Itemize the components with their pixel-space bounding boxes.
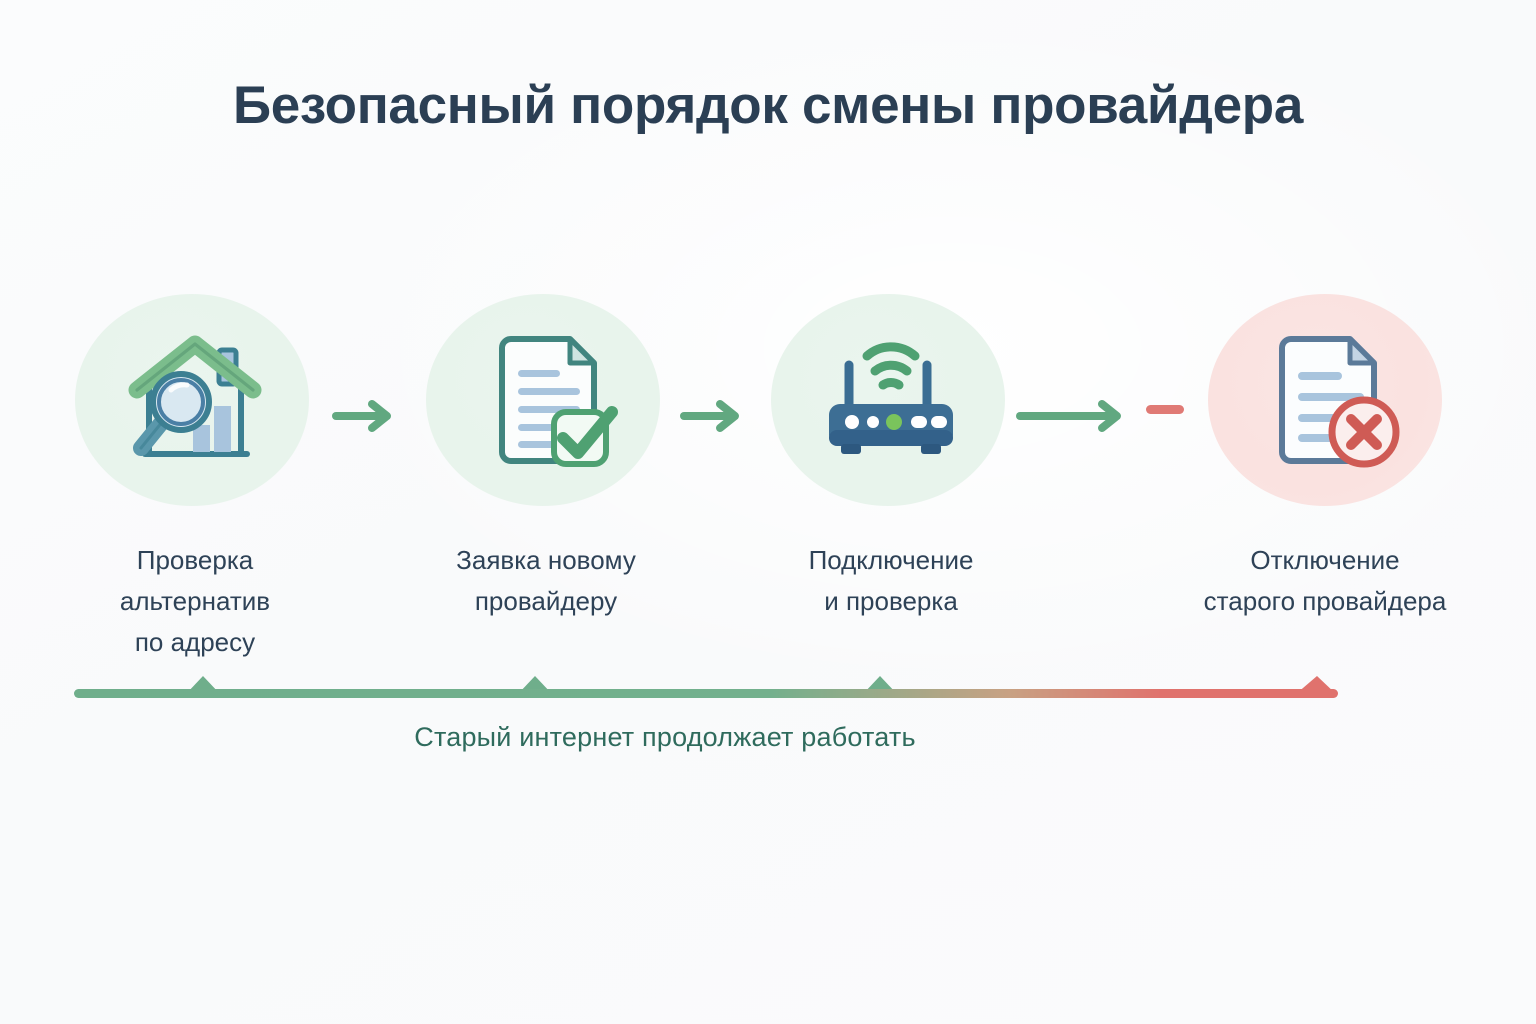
step-application-new-provider[interactable] — [426, 286, 666, 514]
arrow-right-icon-3 — [1016, 398, 1132, 434]
document-check-icon — [466, 320, 626, 480]
wifi-router-icon — [811, 320, 971, 480]
step-label-disconnect-old-provider: Отключение старого провайдера — [1150, 540, 1500, 622]
document-cancel-icon — [1248, 320, 1408, 480]
steps-row — [0, 286, 1536, 526]
house-magnifier-chart-icon — [115, 320, 275, 480]
infographic-canvas: Безопасный порядок смены провайдера — [0, 0, 1536, 1024]
step-connect-and-verify[interactable] — [771, 286, 1011, 514]
step-disconnect-old-provider[interactable] — [1208, 286, 1448, 514]
step-labels: Проверка альтернатив по адресу Заявка но… — [0, 540, 1536, 660]
dash-icon — [1146, 405, 1184, 414]
step-check-alternatives[interactable] — [75, 286, 315, 514]
page-title: Безопасный порядок смены провайдера — [0, 76, 1536, 135]
arrow-right-icon-1 — [332, 398, 402, 434]
step-label-connect-and-verify: Подключение и проверка — [759, 540, 1023, 622]
timeline-caption: Старый интернет продолжает работать — [0, 722, 1330, 753]
step-label-application-new-provider: Заявка новому провайдеру — [426, 540, 666, 622]
timeline-bar — [70, 672, 1345, 706]
arrow-right-icon-2 — [680, 398, 750, 434]
step-label-check-alternatives: Проверка альтернатив по адресу — [75, 540, 315, 663]
